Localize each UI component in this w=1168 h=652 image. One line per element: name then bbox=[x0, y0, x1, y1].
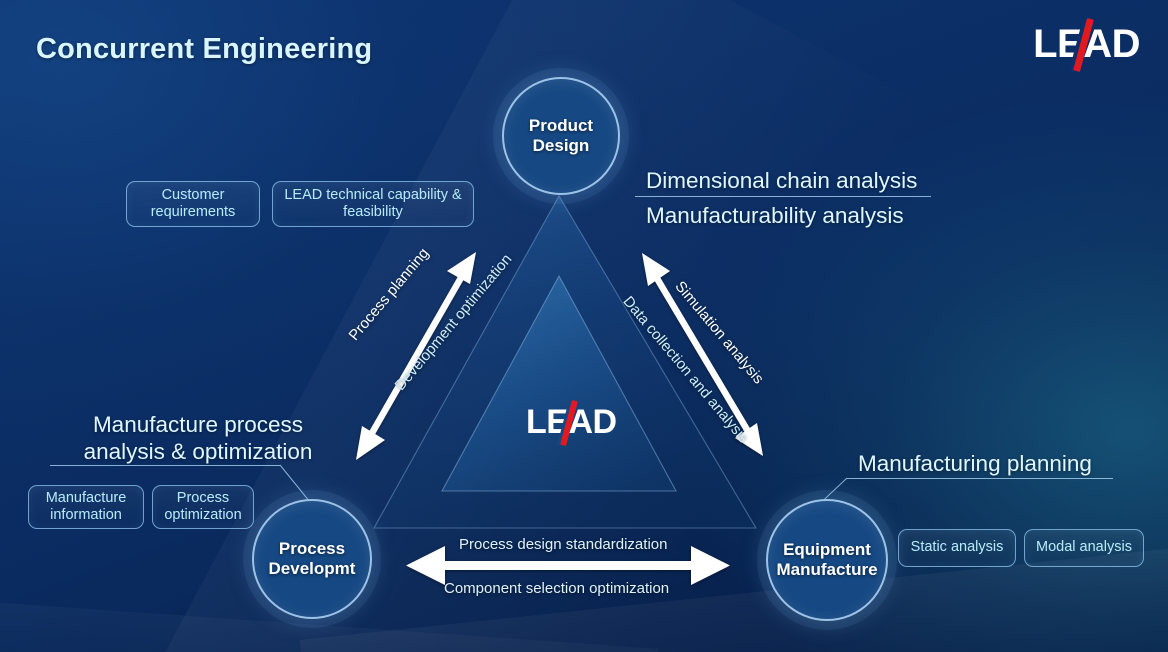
pill-process-optimization[interactable]: Process optimization bbox=[152, 485, 254, 529]
lead-logo-header: LEAD bbox=[1033, 24, 1140, 64]
slide-canvas: Concurrent Engineering LEAD LEAD Product… bbox=[0, 0, 1168, 652]
node-equipment-manufacture[interactable]: Equipment Manufacture bbox=[766, 499, 888, 621]
rule-dimensional bbox=[635, 196, 931, 197]
node-product-design-line1: Product bbox=[529, 116, 593, 135]
node-product-design[interactable]: Product Design bbox=[502, 77, 620, 195]
lead-logo-center: LEAD bbox=[526, 405, 617, 439]
page-title: Concurrent Engineering bbox=[36, 33, 372, 66]
pill-modal-analysis[interactable]: Modal analysis bbox=[1024, 529, 1144, 567]
pill-manufacture-information[interactable]: Manufacture information bbox=[28, 485, 144, 529]
headline-manufacture-process-analysis: Manufacture process analysis & optimizat… bbox=[78, 411, 318, 466]
node-process-development[interactable]: Process Developmt bbox=[252, 499, 372, 619]
node-process-development-line1: Process bbox=[279, 539, 345, 558]
leader-line-process bbox=[280, 465, 310, 502]
pill-lead-technical-capability[interactable]: LEAD technical capability & feasibility bbox=[272, 181, 474, 227]
label-component-selection-optimization: Component selection optimization bbox=[444, 580, 669, 597]
headline-manufacturability-analysis: Manufacturability analysis bbox=[646, 202, 904, 229]
pill-customer-requirements[interactable]: Customer requirements bbox=[126, 181, 260, 227]
headline-mpa-line1: Manufacture process bbox=[93, 412, 303, 437]
headline-dimensional-chain-analysis: Dimensional chain analysis bbox=[646, 167, 917, 194]
node-process-development-line2: Developmt bbox=[269, 559, 356, 578]
rule-manufacture-process bbox=[50, 465, 280, 466]
rule-manufacturing-planning bbox=[847, 478, 1113, 479]
label-process-design-standardization: Process design standardization bbox=[459, 536, 667, 553]
node-product-design-line2: Design bbox=[533, 136, 590, 155]
node-equipment-manufacture-line1: Equipment bbox=[783, 540, 871, 559]
node-equipment-manufacture-line2: Manufacture bbox=[776, 560, 877, 579]
headline-mpa-line2: analysis & optimization bbox=[84, 439, 313, 464]
pill-static-analysis[interactable]: Static analysis bbox=[898, 529, 1016, 567]
headline-manufacturing-planning: Manufacturing planning bbox=[858, 450, 1092, 477]
